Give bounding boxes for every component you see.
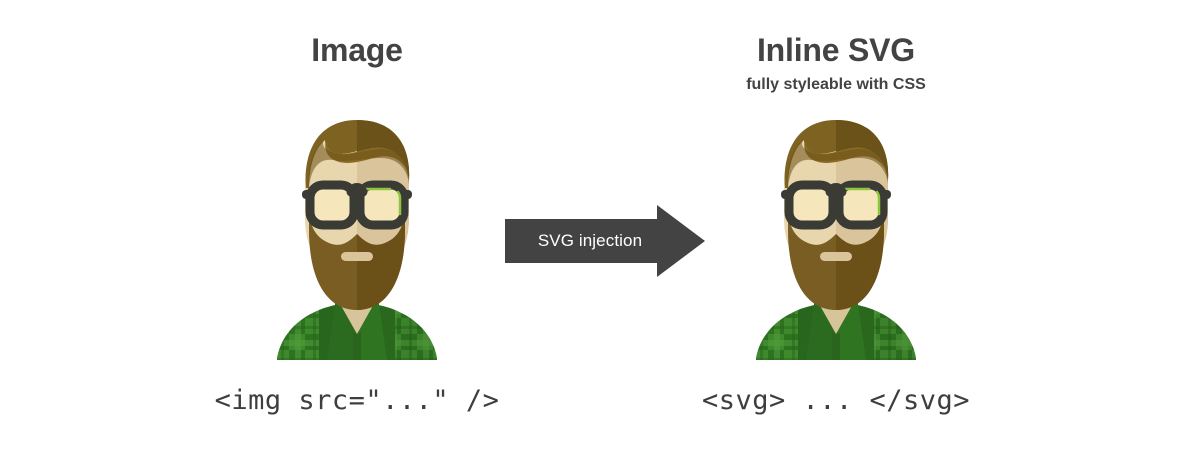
panel-subtitle-inline-svg: fully styleable with CSS	[626, 76, 1046, 94]
panel-title-image: Image	[147, 33, 567, 68]
illustration-canvas: Image	[0, 0, 1200, 472]
panel-title-inline-svg: Inline SVG	[626, 33, 1046, 68]
hipster-avatar-inline-svg	[736, 110, 936, 360]
hipster-avatar-image	[257, 110, 457, 360]
glasses	[781, 185, 891, 225]
glasses	[302, 185, 412, 225]
panel-inline-svg: Inline SVG fully styleable with CSS	[626, 0, 1046, 472]
panel-image: Image	[147, 0, 567, 472]
code-caption-svg: <svg> ... </svg>	[626, 385, 1046, 416]
code-caption-img: <img src="..." />	[147, 385, 567, 416]
